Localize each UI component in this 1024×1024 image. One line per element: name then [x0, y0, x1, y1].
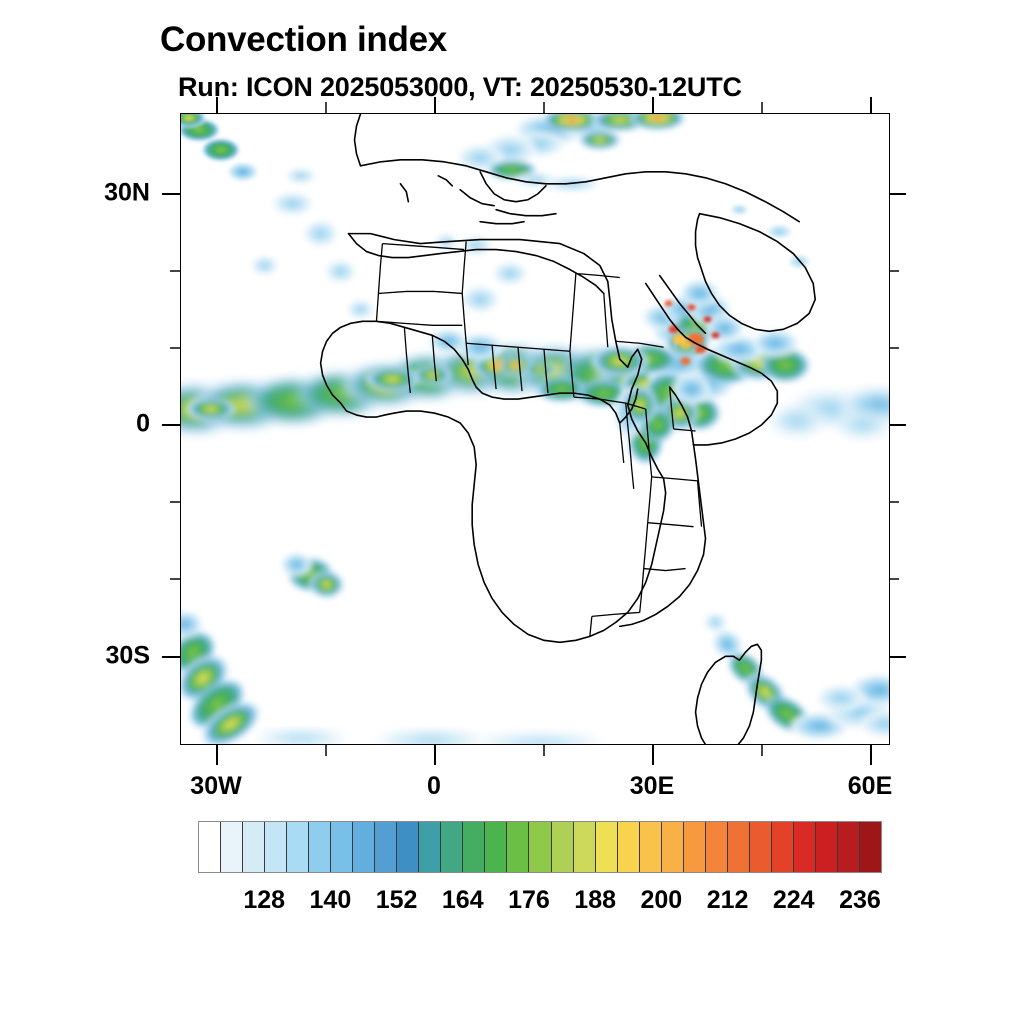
colorbar-cell — [662, 822, 684, 872]
xlabel-0: 0 — [427, 772, 441, 801]
colorbar-cell — [860, 822, 881, 872]
colorbar-tick-label: 212 — [707, 886, 749, 915]
colorbar-tick-label: 236 — [839, 886, 881, 915]
colorbar-tick-label: 200 — [640, 886, 682, 915]
colorbar-cell — [728, 822, 750, 872]
colorbar-cell — [375, 822, 397, 872]
ytick-right-minor-10n — [890, 347, 899, 349]
xtick-top-minor-15w — [325, 102, 327, 113]
colorbar-cell — [485, 822, 507, 872]
colorbar-cell — [772, 822, 794, 872]
xtick-top-minor-45e — [761, 102, 763, 113]
colorbar-cell — [706, 822, 728, 872]
colorbar-cell — [463, 822, 485, 872]
colorbar-cell — [507, 822, 529, 872]
south-atlantic-front — [181, 610, 269, 744]
colorbar-cell — [309, 822, 331, 872]
colorbar-cell — [794, 822, 816, 872]
colorbar-cell — [574, 822, 596, 872]
xtick-0 — [434, 745, 436, 765]
xtick-60e — [870, 745, 872, 765]
xlabel-60e: 60E — [848, 772, 892, 801]
colorbar-cell — [265, 822, 287, 872]
xtick-minor-45e — [761, 745, 763, 756]
colorbar-cell — [287, 822, 309, 872]
xtick-top-0 — [434, 97, 436, 113]
ytick-right-minor-10s — [890, 501, 899, 503]
xtick-top-60e — [870, 97, 872, 113]
colorbar-cell — [596, 822, 618, 872]
map-canvas — [181, 114, 889, 744]
colorbar-cell — [199, 822, 221, 872]
indian-ocean-convection — [767, 387, 889, 439]
run-valid-time-subtitle: Run: ICON 2025053000, VT: 20250530-12UTC — [178, 72, 742, 103]
map-plot-area — [180, 113, 890, 745]
south-indian-front — [704, 612, 889, 741]
ytick-minor-20n — [170, 270, 180, 272]
colorbar-tick-label: 176 — [508, 886, 550, 915]
xtick-minor-15e — [543, 745, 545, 756]
ytick-minor-10s — [170, 501, 180, 503]
colorbar-cell — [331, 822, 353, 872]
ytick-minor-10n — [170, 347, 180, 349]
ytick-right-0 — [890, 424, 906, 426]
xtick-30e — [652, 745, 654, 765]
ylabel-0: 0 — [40, 410, 150, 439]
page-title: Convection index — [160, 20, 447, 60]
colorbar-cell — [816, 822, 838, 872]
xtick-top-30e — [652, 97, 654, 113]
colorbar-tick-label: 188 — [574, 886, 616, 915]
colorbar-tick-label: 128 — [243, 886, 285, 915]
colorbar[interactable] — [198, 821, 882, 873]
colorbar-cell — [243, 822, 265, 872]
colorbar-cell — [552, 822, 574, 872]
xlabel-30w: 30W — [190, 772, 241, 801]
ytick-0 — [162, 424, 180, 426]
colorbar-cell — [529, 822, 551, 872]
colorbar-cell — [838, 822, 860, 872]
xtick-top-30w — [216, 97, 218, 113]
mid-atlantic-cluster — [281, 553, 345, 599]
colorbar-tick-label: 140 — [310, 886, 352, 915]
ytick-right-30s — [890, 656, 906, 658]
colorbar-tick-label: 164 — [442, 886, 484, 915]
ylabel-30s: 30S — [40, 642, 150, 671]
ytick-minor-20s — [170, 578, 180, 580]
ylabel-30n: 30N — [40, 179, 150, 208]
ytick-30n — [162, 193, 180, 195]
colorbar-cell — [353, 822, 375, 872]
colorbar-cell — [618, 822, 640, 872]
mediterranean-convection — [456, 114, 685, 192]
ytick-right-30n — [890, 193, 906, 195]
colorbar-tick-label: 152 — [376, 886, 418, 915]
xtick-top-minor-15e — [543, 102, 545, 113]
ytick-right-minor-20s — [890, 578, 899, 580]
ytick-right-minor-20n — [890, 270, 899, 272]
colorbar-tick-label: 224 — [773, 886, 815, 915]
colorbar-cell — [419, 822, 441, 872]
ytick-30s — [162, 656, 180, 658]
northwest-coastal-convection — [181, 114, 259, 182]
xlabel-30e: 30E — [630, 772, 674, 801]
colorbar-cell — [640, 822, 662, 872]
colorbar-cell — [221, 822, 243, 872]
convection-index-field — [181, 114, 889, 744]
colorbar-cell — [397, 822, 419, 872]
colorbar-cell — [750, 822, 772, 872]
weather-map-figure: Convection index Run: ICON 2025053000, V… — [0, 0, 1024, 1024]
southern-edge-wisps — [251, 729, 610, 744]
xtick-30w — [216, 745, 218, 765]
colorbar-cell — [684, 822, 706, 872]
xtick-minor-15w — [325, 745, 327, 756]
colorbar-cell — [441, 822, 463, 872]
